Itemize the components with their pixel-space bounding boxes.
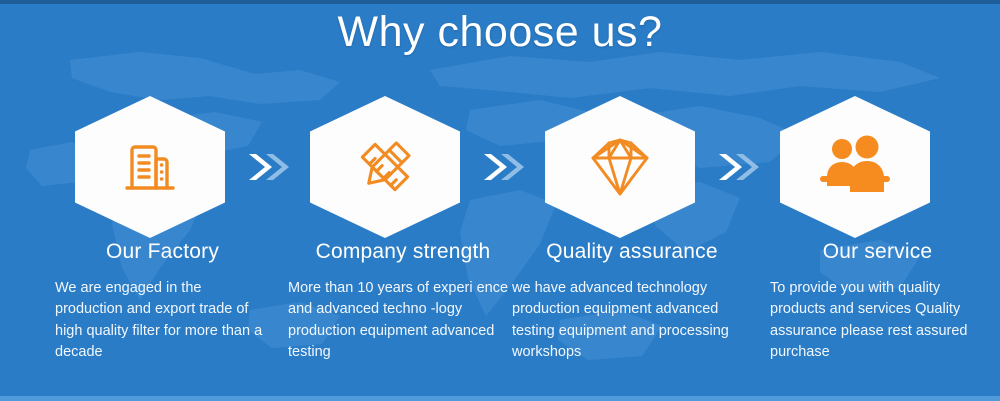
page-title: Why choose us? — [0, 8, 1000, 57]
hexagon-our-service — [780, 96, 930, 238]
diamond-gem-icon — [581, 132, 659, 202]
hexagon-quality-assurance — [545, 96, 695, 238]
two-people-icon — [814, 133, 896, 201]
icon-row — [0, 96, 1000, 238]
separator-arrow-2 — [480, 148, 526, 186]
feature-heading: Our Factory — [55, 240, 270, 264]
feature-body: We are engaged in the production and exp… — [55, 278, 270, 364]
feature-columns: Our Factory We are engaged in the produc… — [0, 240, 1000, 390]
feature-body: More than 10 years of experi ence and ad… — [288, 278, 518, 364]
feature-heading: Company strength — [288, 240, 518, 264]
hexagon-company-strength — [310, 96, 460, 238]
feature-column-company-strength: Company strength More than 10 years of e… — [288, 240, 518, 364]
why-choose-us-banner: Why choose us? — [0, 0, 1000, 401]
pencil-ruler-icon — [348, 130, 422, 204]
bottom-edge-strip — [0, 396, 1000, 401]
double-chevron-right-icon — [480, 148, 526, 186]
office-building-icon — [114, 131, 186, 203]
top-edge-strip — [0, 0, 1000, 4]
feature-column-our-service: Our service To provide you with quality … — [770, 240, 985, 364]
feature-body: To provide you with quality products and… — [770, 278, 985, 364]
separator-arrow-1 — [245, 148, 291, 186]
double-chevron-right-icon — [245, 148, 291, 186]
feature-body: we have advanced technology production e… — [512, 278, 752, 364]
feature-heading: Quality assurance — [512, 240, 752, 264]
separator-arrow-3 — [715, 148, 761, 186]
feature-heading: Our service — [770, 240, 985, 264]
feature-column-our-factory: Our Factory We are engaged in the produc… — [55, 240, 270, 364]
feature-column-quality-assurance: Quality assurance we have advanced techn… — [512, 240, 752, 364]
double-chevron-right-icon — [715, 148, 761, 186]
hexagon-our-factory — [75, 96, 225, 238]
